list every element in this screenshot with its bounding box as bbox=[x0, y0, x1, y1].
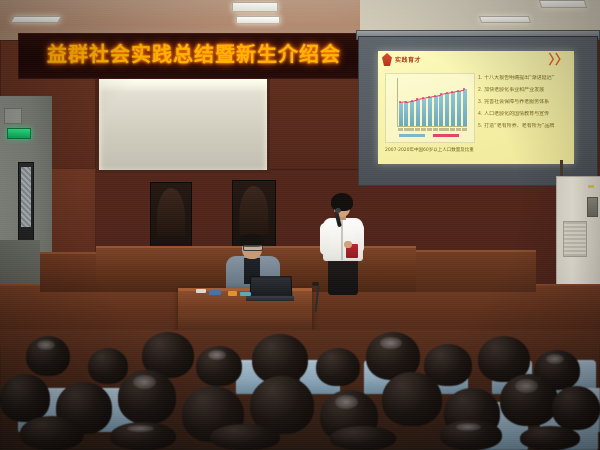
desk-microphone-icon bbox=[312, 282, 319, 286]
audience-head bbox=[330, 426, 396, 450]
chart-x-tick bbox=[456, 128, 461, 131]
slide-bullet-text: 完善社会保障与养老服务体系 bbox=[484, 99, 549, 105]
glasses-icon bbox=[243, 245, 263, 251]
slide-chart-caption: 2007-2020年中国60岁以上人口数量及比重 bbox=[385, 147, 495, 153]
chart-x-tick bbox=[439, 128, 444, 131]
chart-x-tick bbox=[444, 128, 449, 131]
slide-bullet: 3.完善社会保障与养老服务体系 bbox=[478, 99, 568, 105]
desk-paper bbox=[196, 289, 206, 293]
audience-head bbox=[210, 424, 280, 450]
ceiling-light bbox=[236, 16, 280, 24]
presenter-trousers bbox=[328, 259, 358, 295]
slide-bullet-number: 3. bbox=[478, 99, 482, 105]
chart-x-tick bbox=[398, 128, 403, 131]
chart-plot-area bbox=[397, 78, 467, 126]
chart-legend bbox=[399, 134, 465, 138]
chart-bar bbox=[445, 93, 449, 126]
audience-head bbox=[110, 422, 176, 450]
chart-bar bbox=[434, 96, 438, 126]
presenter-arm-left bbox=[320, 223, 330, 255]
chart-bar bbox=[463, 89, 467, 126]
chart-x-tick bbox=[415, 128, 420, 131]
audience-head bbox=[520, 426, 580, 450]
chart-x-tick-labels bbox=[397, 128, 467, 132]
ac-vent-grill bbox=[563, 221, 587, 257]
slide-chart bbox=[385, 73, 475, 143]
stage-bench-left bbox=[40, 252, 98, 292]
chart-x-tick bbox=[421, 128, 426, 131]
audience-area bbox=[0, 330, 600, 450]
slide-bullet-text: 人口老龄化的国情教育与宣传 bbox=[484, 111, 549, 117]
chair-back bbox=[157, 188, 185, 236]
panel-glow bbox=[99, 78, 267, 92]
chart-bar bbox=[410, 101, 414, 126]
chart-x-tick bbox=[404, 128, 409, 131]
presenter-hand bbox=[344, 241, 352, 248]
air-conditioner-unit bbox=[556, 176, 600, 300]
slide-header: 实践育才 〉〉 bbox=[378, 51, 574, 69]
audience-head bbox=[88, 348, 128, 384]
audience-head bbox=[440, 420, 502, 450]
slide-bullet-number: 4. bbox=[478, 111, 482, 117]
wall-control-box bbox=[4, 108, 22, 124]
slide-bullet-number: 5. bbox=[478, 123, 482, 129]
led-banner-text: 益群社会实践总结暨新生介绍会 bbox=[47, 38, 347, 67]
chart-bar bbox=[451, 92, 455, 126]
audience-head bbox=[20, 416, 84, 450]
slide-bullet-text: 加快老龄化事业和产业发展 bbox=[484, 87, 544, 93]
slide-bullet-number: 2. bbox=[478, 87, 482, 93]
chart-x-tick bbox=[450, 128, 455, 131]
door-glass bbox=[21, 167, 31, 227]
ceiling-light bbox=[539, 0, 588, 8]
chart-x-axis bbox=[397, 126, 467, 127]
ac-control-panel[interactable] bbox=[587, 197, 598, 217]
chart-x-tick bbox=[462, 128, 467, 131]
chart-bar bbox=[404, 102, 408, 126]
slide-bullet-list: 1.十八大报告明确提出“渐进延迟” 2.加快老龄化事业和产业发展3.完善社会保障… bbox=[478, 75, 568, 135]
backlit-wall-panel bbox=[96, 75, 270, 173]
photo-scene: 益群社会实践总结暨新生介绍会 实践育才 〉〉 1.十八大报告明确提出“渐进延迟”… bbox=[0, 0, 600, 450]
audience-head bbox=[118, 370, 176, 424]
chart-bar bbox=[457, 91, 461, 126]
slide-logo-text: 实践育才 bbox=[395, 55, 421, 64]
desk-item-cyan bbox=[240, 292, 251, 296]
laptop-keyboard bbox=[246, 296, 294, 301]
slide-bullet: 1.十八大报告明确提出“渐进延迟” bbox=[478, 75, 568, 81]
slide-bullet: 2.加快老龄化事业和产业发展 bbox=[478, 87, 568, 93]
slide-bullet-text: 十八大报告明确提出“渐进延迟” bbox=[484, 75, 554, 81]
chair-back bbox=[239, 186, 268, 235]
ceiling-light bbox=[232, 2, 278, 12]
chart-bar bbox=[428, 97, 432, 126]
presenter-hair bbox=[331, 193, 353, 211]
audience-head bbox=[316, 348, 360, 386]
chart-bar bbox=[416, 100, 420, 126]
audience-head bbox=[382, 372, 442, 426]
slide-corner-mark-icon: 〉〉 bbox=[548, 53, 568, 66]
ceiling-light bbox=[479, 16, 531, 23]
audience-head bbox=[196, 346, 242, 386]
slide-bullet-number: 1. bbox=[478, 75, 482, 81]
desk-folder bbox=[209, 290, 221, 295]
presentation-slide: 实践育才 〉〉 1.十八大报告明确提出“渐进延迟” 2.加快老龄化事业和产业发展… bbox=[378, 51, 574, 164]
chart-x-tick bbox=[433, 128, 438, 131]
audience-head bbox=[0, 374, 50, 422]
audience-head bbox=[552, 386, 600, 430]
led-banner: 益群社会实践总结暨新生介绍会 bbox=[18, 33, 364, 79]
audience-head bbox=[500, 374, 558, 426]
shirt-placket bbox=[341, 220, 343, 260]
stage-chair bbox=[150, 182, 192, 250]
stage-bench-right bbox=[416, 250, 536, 292]
slide-bullet-text: 打造“老有所养、老有所为”品牌 bbox=[484, 123, 554, 129]
audience-head bbox=[26, 336, 70, 376]
chart-bar bbox=[399, 103, 403, 126]
ac-display-icon bbox=[588, 185, 594, 188]
slide-logo-icon bbox=[382, 53, 392, 66]
chart-legend-item bbox=[399, 134, 425, 137]
chart-x-tick bbox=[409, 128, 414, 131]
chart-y-axis bbox=[397, 78, 398, 126]
standing-presenter bbox=[320, 193, 366, 295]
chart-bar bbox=[422, 99, 426, 126]
microphone-head-icon bbox=[335, 208, 341, 213]
slide-bullet: 5.打造“老有所养、老有所为”品牌 bbox=[478, 123, 568, 129]
ceiling-light bbox=[10, 16, 62, 23]
exit-sign bbox=[7, 128, 31, 139]
desk-item-orange bbox=[228, 291, 237, 296]
chart-legend-item bbox=[433, 134, 459, 137]
slide-bullet: 4.人口老龄化的国情教育与宣传 bbox=[478, 111, 568, 117]
chart-bar bbox=[439, 95, 443, 126]
chart-x-tick bbox=[427, 128, 432, 131]
